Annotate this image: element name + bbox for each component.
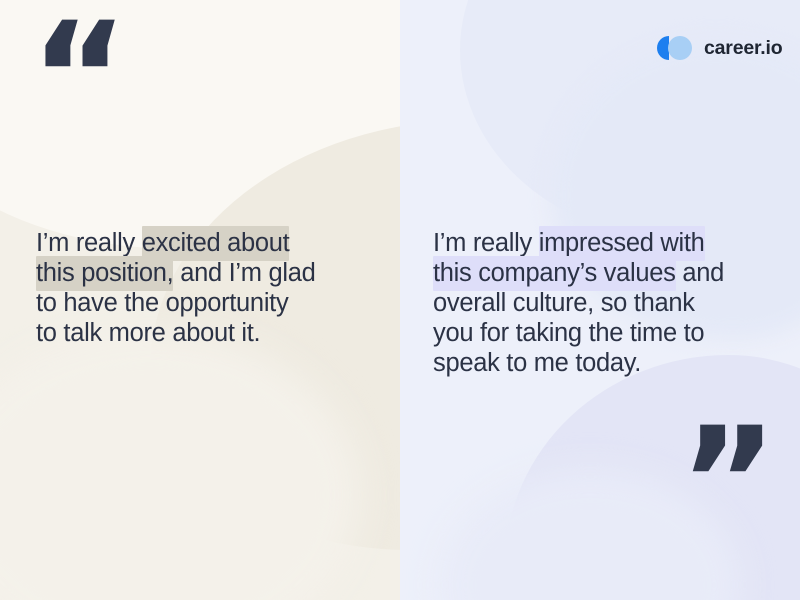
- quote-segment: to talk more about it.: [36, 319, 260, 347]
- closing-quotation-mark-icon: ”: [679, 408, 775, 558]
- highlighted-phrase: this company’s values: [433, 256, 676, 291]
- decorative-blob-soft: [0, 330, 360, 600]
- quote-line: you for taking the time to: [433, 318, 724, 348]
- quote-line: I’m really excited about: [36, 228, 316, 258]
- quote-segment: I’m really: [433, 229, 539, 257]
- highlighted-phrase: this position,: [36, 256, 173, 291]
- quote-segment: to have the opportunity: [36, 289, 288, 317]
- quote-card-canvas: “ I’m really excited aboutthis position,…: [0, 0, 800, 600]
- left-quote-panel: “ I’m really excited aboutthis position,…: [0, 0, 400, 600]
- quote-segment: and I’m glad: [173, 259, 315, 287]
- quote-line: to talk more about it.: [36, 318, 316, 348]
- quote-line: this company’s values and: [433, 258, 724, 288]
- left-quote-text: I’m really excited aboutthis position, a…: [36, 228, 316, 348]
- quote-segment: you for taking the time to: [433, 319, 704, 347]
- logo-circle-shape: [668, 36, 692, 60]
- quote-segment: and: [676, 259, 724, 287]
- quote-line: I’m really impressed with: [433, 228, 724, 258]
- quote-line: speak to me today.: [433, 348, 724, 378]
- quote-segment: speak to me today.: [433, 349, 641, 377]
- career-io-logo-mark-icon: [657, 36, 695, 60]
- quote-segment: I’m really: [36, 229, 142, 257]
- opening-quotation-mark-icon: “: [30, 3, 126, 153]
- quote-segment: overall culture, so thank: [433, 289, 695, 317]
- logo-wordmark: career.io: [704, 37, 782, 60]
- right-quote-text: I’m really impressed withthis company’s …: [433, 228, 724, 378]
- quote-line: this position, and I’m glad: [36, 258, 316, 288]
- quote-line: to have the opportunity: [36, 288, 316, 318]
- career-io-logo[interactable]: career.io: [657, 36, 782, 60]
- quote-line: overall culture, so thank: [433, 288, 724, 318]
